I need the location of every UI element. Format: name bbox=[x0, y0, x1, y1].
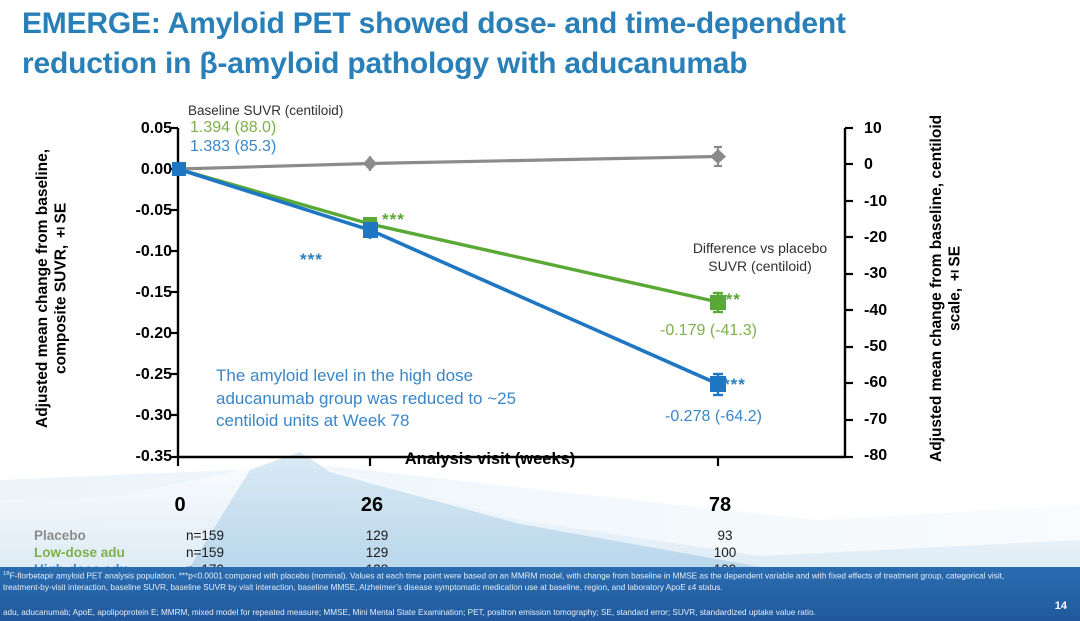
n-value-placebo-week0: n=159 bbox=[150, 528, 260, 543]
difference-vs-placebo-header: Difference vs placebo SUVR (centiloid) bbox=[655, 240, 865, 275]
significance-marker-low-dose-week26: *** bbox=[382, 210, 405, 230]
x-tick-label-1: 26 bbox=[342, 494, 402, 517]
baseline-suvr-high-dose: 1.383 (85.3) bbox=[190, 138, 276, 156]
baseline-suvr-header: Baseline SUVR (centiloid) bbox=[188, 103, 343, 118]
footnote-abbreviations: adu, aducanumab; ApoE, apolipoprotein E;… bbox=[3, 607, 1023, 619]
footnote-methods-text: F-florbetapir amyloid PET analysis popul… bbox=[3, 572, 1004, 593]
difference-high-dose-value: -0.278 (-64.2) bbox=[665, 408, 762, 426]
table-row: Placebo n=159 129 93 bbox=[0, 528, 1080, 545]
slide-title: EMERGE: Amyloid PET showed dose- and tim… bbox=[22, 4, 1062, 84]
n-value-low-dose-week78: 100 bbox=[670, 545, 780, 560]
baseline-suvr-low-dose: 1.394 (88.0) bbox=[190, 119, 276, 137]
n-value-low-dose-week0: n=159 bbox=[150, 545, 260, 560]
significance-marker-low-dose-week78: *** bbox=[718, 290, 741, 310]
slide-number: 14 bbox=[1055, 600, 1067, 612]
slide-title-line-1: EMERGE: Amyloid PET showed dose- and tim… bbox=[22, 4, 1062, 44]
footer-bar: 18F-florbetapir amyloid PET analysis pop… bbox=[0, 567, 1080, 621]
chart-container: Adjusted mean change from baseline, comp… bbox=[0, 100, 1080, 530]
table-row: Low-dose adu n=159 129 100 bbox=[0, 545, 1080, 562]
legend-label-low-dose: Low-dose adu bbox=[34, 545, 125, 560]
legend-label-placebo: Placebo bbox=[34, 528, 86, 543]
n-value-placebo-week26: 129 bbox=[322, 528, 432, 543]
callout-text: The amyloid level in the high dose aduca… bbox=[216, 365, 546, 433]
slide-title-line-2: reduction in β-amyloid pathology with ad… bbox=[22, 44, 1062, 84]
x-tick-label-2: 78 bbox=[690, 494, 750, 517]
difference-low-dose-value: -0.179 (-41.3) bbox=[660, 322, 757, 340]
significance-marker-high-dose-week78: *** bbox=[723, 375, 746, 395]
significance-marker-high-dose-week26: *** bbox=[300, 250, 323, 270]
n-value-low-dose-week26: 129 bbox=[322, 545, 432, 560]
n-value-placebo-week78: 93 bbox=[670, 528, 780, 543]
x-axis-title: Analysis visit (weeks) bbox=[330, 450, 650, 469]
x-tick-label-0: 0 bbox=[150, 494, 210, 517]
footnote-methods: 18F-florbetapir amyloid PET analysis pop… bbox=[3, 570, 1023, 594]
